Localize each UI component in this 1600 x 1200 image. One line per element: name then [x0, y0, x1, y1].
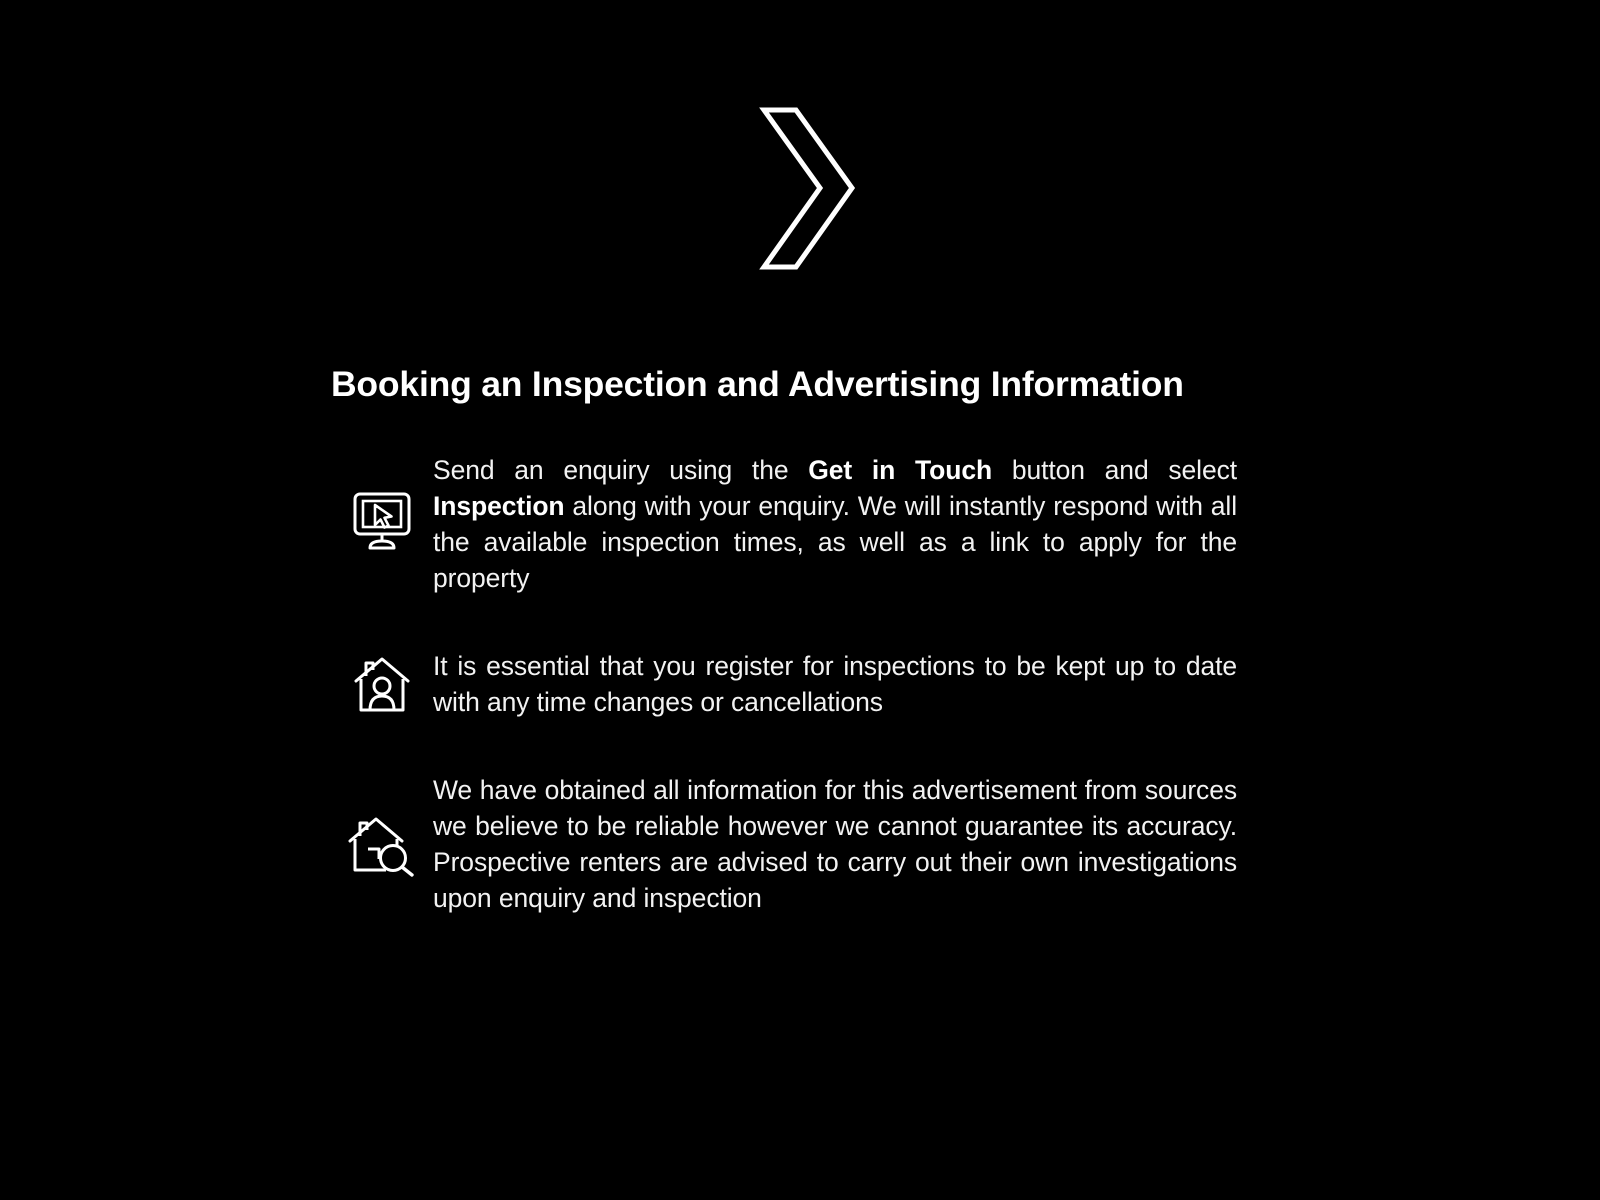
section-text: We have obtained all information for thi…: [433, 772, 1237, 916]
house-person-icon: [331, 653, 433, 715]
list-item: Send an enquiry using the Get in Touch b…: [331, 452, 1237, 596]
text-run-bold: Get in Touch: [808, 455, 992, 485]
brand-logo: [0, 104, 1600, 274]
list-item: We have obtained all information for thi…: [331, 772, 1237, 916]
slide-root: Booking an Inspection and Advertising In…: [0, 0, 1600, 1200]
page-title: Booking an Inspection and Advertising In…: [331, 362, 1237, 406]
chevron-right-outline-logo-icon: [740, 104, 860, 274]
text-run: Send an enquiry using the: [433, 455, 808, 485]
sections-list: Send an enquiry using the Get in Touch b…: [0, 452, 1600, 916]
text-run: It is essential that you register for in…: [433, 651, 1237, 717]
text-run: button and select: [992, 455, 1237, 485]
house-magnifier-icon: [331, 813, 433, 877]
monitor-cursor-icon: [331, 490, 433, 552]
section-text: It is essential that you register for in…: [433, 648, 1237, 720]
text-run-bold: Inspection: [433, 491, 565, 521]
text-run: We have obtained all information for thi…: [433, 775, 1237, 913]
list-item: It is essential that you register for in…: [331, 648, 1237, 720]
section-text: Send an enquiry using the Get in Touch b…: [433, 452, 1237, 596]
